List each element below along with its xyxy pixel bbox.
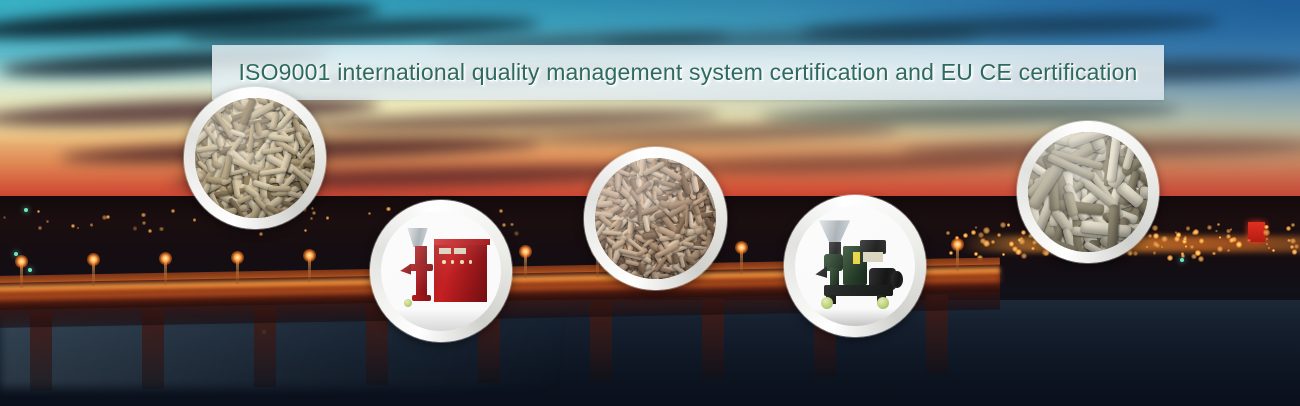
city-light bbox=[1174, 236, 1180, 242]
bridge-lamp bbox=[236, 258, 239, 284]
control-knob bbox=[469, 260, 473, 264]
city-light bbox=[971, 230, 975, 234]
wood-pellets-light-tan[interactable] bbox=[184, 87, 326, 229]
city-light bbox=[1230, 228, 1232, 230]
bridge-lamp bbox=[956, 245, 959, 271]
image-vignette bbox=[195, 98, 315, 218]
city-light bbox=[963, 233, 968, 238]
promo-banner: ISO9001 international quality management… bbox=[0, 0, 1300, 406]
mill-base bbox=[412, 295, 431, 301]
city-light bbox=[1152, 225, 1157, 230]
photo-floor-shadow bbox=[381, 309, 501, 331]
bridge-lamp bbox=[92, 260, 95, 286]
caster-wheel bbox=[404, 299, 412, 307]
bridge-lamp bbox=[20, 262, 23, 288]
city-light bbox=[1190, 245, 1193, 248]
wood-pellet bbox=[201, 194, 208, 218]
city-light bbox=[1148, 234, 1152, 238]
city-light bbox=[1207, 225, 1212, 230]
city-light bbox=[1181, 254, 1185, 258]
city-light bbox=[1236, 241, 1243, 248]
control-knob bbox=[442, 260, 446, 264]
city-light bbox=[1184, 236, 1186, 238]
motor-fan-cover bbox=[891, 271, 903, 288]
teal-light bbox=[28, 268, 32, 272]
bridge-lamp bbox=[164, 259, 167, 285]
city-light bbox=[946, 231, 950, 235]
city-light bbox=[1290, 238, 1296, 244]
city-light bbox=[983, 240, 990, 247]
medallion-image bbox=[1028, 132, 1148, 252]
meter-display-1 bbox=[439, 248, 451, 254]
distant-light bbox=[510, 223, 513, 226]
cabinet-top bbox=[434, 239, 490, 245]
green-black-pellet-mill-machine[interactable] bbox=[784, 195, 926, 337]
wood-pellets-brown[interactable] bbox=[584, 147, 727, 290]
distant-light bbox=[133, 226, 137, 230]
distant-light bbox=[142, 221, 146, 225]
teal-light bbox=[1180, 258, 1184, 262]
red-pellet-mill-machine[interactable] bbox=[370, 200, 512, 342]
nameplate bbox=[863, 252, 882, 263]
city-light bbox=[997, 233, 1001, 237]
photo-floor-shadow bbox=[795, 309, 915, 326]
city-light bbox=[1161, 246, 1163, 248]
distant-light bbox=[514, 231, 519, 236]
distant-light bbox=[90, 223, 93, 226]
city-light bbox=[1020, 237, 1023, 240]
city-light bbox=[1217, 246, 1223, 252]
city-light bbox=[1217, 223, 1220, 226]
city-light bbox=[1292, 249, 1298, 255]
city-light bbox=[1012, 246, 1018, 252]
city-light bbox=[1175, 231, 1178, 234]
page-title: ISO9001 international quality management… bbox=[238, 59, 1137, 86]
medallion-image bbox=[595, 158, 716, 279]
city-light bbox=[1167, 255, 1173, 261]
medallion-image bbox=[795, 206, 915, 326]
mill-column bbox=[830, 268, 840, 285]
city-light bbox=[1161, 236, 1167, 242]
distant-light bbox=[38, 226, 41, 229]
caster-wheel-right bbox=[877, 297, 889, 309]
control-knob bbox=[451, 260, 455, 264]
bridge-lamp bbox=[524, 252, 527, 278]
city-light bbox=[1287, 239, 1291, 243]
distant-light bbox=[368, 212, 371, 215]
teal-light bbox=[24, 208, 28, 212]
image-vignette bbox=[1028, 132, 1148, 252]
city-light bbox=[978, 232, 984, 238]
image-vignette bbox=[595, 158, 716, 279]
yellow-warning-label bbox=[853, 252, 860, 264]
bridge-lamp bbox=[740, 248, 743, 274]
distant-light bbox=[37, 210, 40, 213]
meter-display-2 bbox=[454, 248, 466, 254]
city-light bbox=[1153, 241, 1158, 246]
mill-column bbox=[416, 270, 427, 296]
medallion-image bbox=[195, 98, 315, 218]
medallion-image bbox=[381, 211, 501, 331]
wood-pellets-closeup-grey[interactable] bbox=[1017, 121, 1159, 263]
city-light bbox=[1021, 253, 1027, 259]
distant-light bbox=[502, 223, 506, 227]
city-light bbox=[1198, 256, 1204, 262]
city-light bbox=[1199, 238, 1205, 244]
control-knob bbox=[460, 260, 464, 264]
distant-light bbox=[326, 216, 329, 219]
headline-strip: ISO9001 international quality management… bbox=[212, 45, 1164, 100]
bridge-lamp bbox=[308, 256, 311, 282]
